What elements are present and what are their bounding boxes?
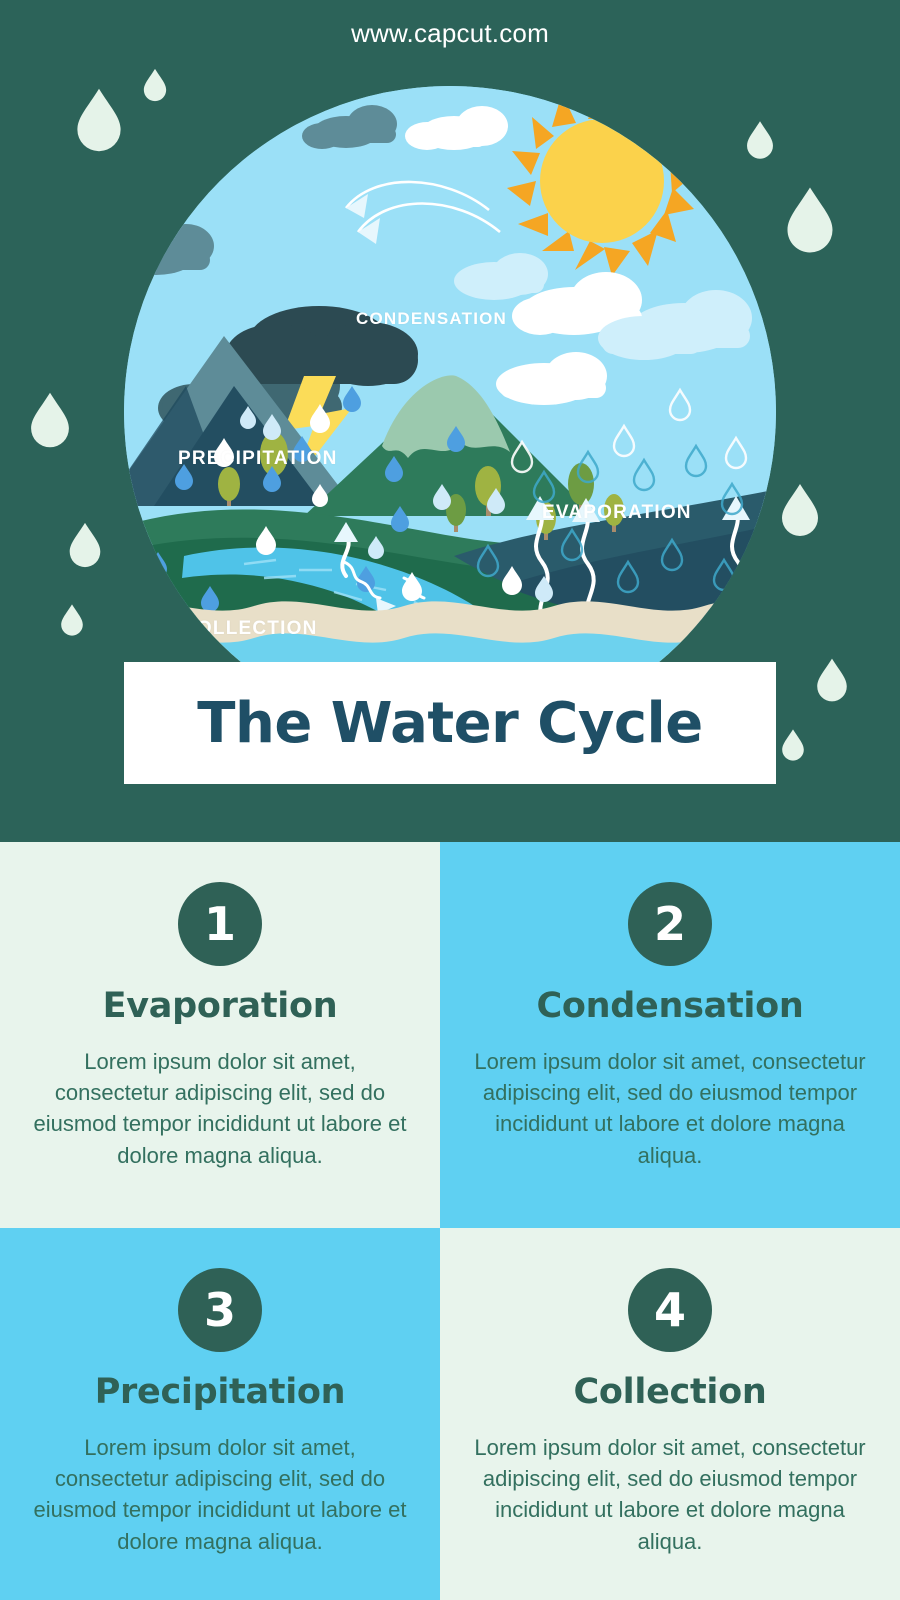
label-evaporation: EVAPORATION xyxy=(542,502,692,524)
step-number-badge-4: 4 xyxy=(628,1268,712,1352)
droplet-icon xyxy=(782,729,804,760)
label-precipitation: PRECIPITATION xyxy=(178,448,338,470)
droplet-icon xyxy=(31,393,69,448)
droplet-icon xyxy=(817,659,847,702)
step-body-3: Lorem ipsum dolor sit amet, consectetur … xyxy=(28,1432,412,1557)
water-cycle-svg xyxy=(124,86,776,738)
step-card-4[interactable]: 4 Collection Lorem ipsum dolor sit amet,… xyxy=(440,1228,900,1600)
droplet-icon xyxy=(61,604,83,635)
label-condensation: CONDENSATION xyxy=(356,309,507,329)
droplet-icon xyxy=(77,89,120,151)
droplet-icon xyxy=(782,484,818,536)
step-title-2: Condensation xyxy=(468,986,872,1026)
steps-grid: 1 Evaporation Lorem ipsum dolor sit amet… xyxy=(0,842,900,1600)
droplet-icon xyxy=(70,523,101,567)
page-title: The Water Cycle xyxy=(124,662,776,784)
step-card-1[interactable]: 1 Evaporation Lorem ipsum dolor sit amet… xyxy=(0,842,440,1228)
droplet-icon xyxy=(788,188,833,253)
step-number-badge-2: 2 xyxy=(628,882,712,966)
droplet-icon xyxy=(144,69,166,101)
infographic-page: www.capcut.com xyxy=(0,0,900,1600)
step-title-3: Precipitation xyxy=(28,1372,412,1412)
hero-section: www.capcut.com xyxy=(0,0,900,840)
step-number-badge-3: 3 xyxy=(178,1268,262,1352)
water-cycle-illustration: CONDENSATION PRECIPITATION EVAPORATION C… xyxy=(124,86,776,738)
step-card-2[interactable]: 2 Condensation Lorem ipsum dolor sit ame… xyxy=(440,842,900,1228)
step-card-3[interactable]: 3 Precipitation Lorem ipsum dolor sit am… xyxy=(0,1228,440,1600)
label-collection: COLLECTION xyxy=(182,618,318,640)
step-body-2: Lorem ipsum dolor sit amet, consectetur … xyxy=(470,1046,870,1171)
step-number-badge-1: 1 xyxy=(178,882,262,966)
title-ribbon: The Water Cycle xyxy=(124,662,776,784)
step-title-4: Collection xyxy=(468,1372,872,1412)
step-title-1: Evaporation xyxy=(28,986,412,1026)
step-body-1: Lorem ipsum dolor sit amet, consectetur … xyxy=(28,1046,412,1171)
step-body-4: Lorem ipsum dolor sit amet, consectetur … xyxy=(470,1432,870,1557)
droplet-icon xyxy=(747,121,773,158)
